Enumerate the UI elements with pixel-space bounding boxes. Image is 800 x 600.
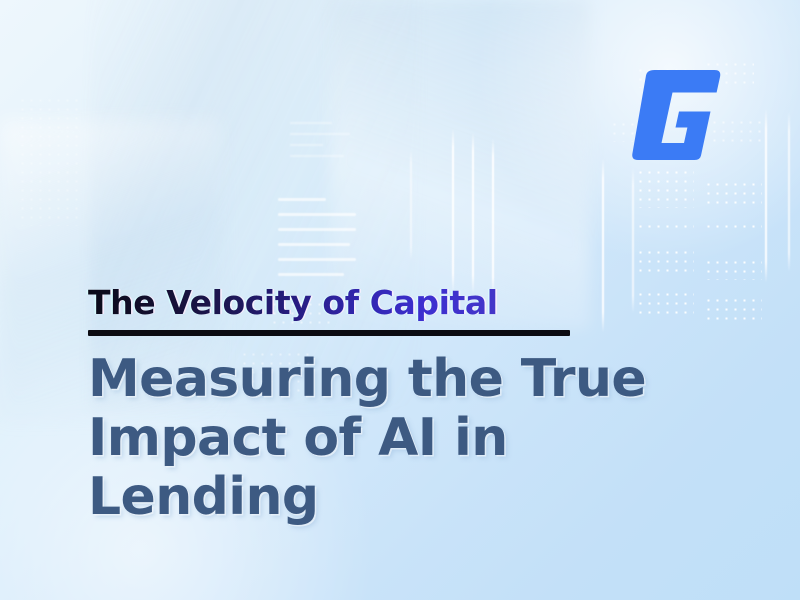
background-horizontal-bars-secondary [290, 122, 350, 182]
eyebrow-text: The Velocity of Capital [88, 286, 498, 321]
background-dot-grid [636, 248, 694, 278]
background-vertical-line [452, 128, 454, 293]
background-bar [290, 122, 332, 124]
background-dot-grid [636, 168, 694, 208]
background-bar [278, 258, 356, 261]
background-photo-ghost-right [330, 0, 590, 330]
background-vertical-line [472, 132, 474, 294]
background-bar [290, 133, 350, 135]
title-slide: The Velocity of Capital The Velocity of … [0, 0, 800, 600]
background-bar [290, 144, 323, 146]
background-dot-grid [636, 222, 694, 234]
title-divider [88, 330, 570, 336]
background-vertical-line [492, 138, 494, 296]
background-dot-grid [18, 96, 78, 226]
background-bar [290, 155, 344, 157]
background-bar [278, 213, 356, 216]
background-vertical-line [410, 150, 412, 260]
background-bar [278, 243, 350, 246]
g-logo-icon [628, 66, 724, 162]
background-dot-grid [704, 258, 762, 280]
background-vertical-line [765, 108, 767, 283]
background-bar [278, 198, 326, 201]
page-title-line-1: Measuring the True [88, 350, 728, 409]
eyebrow-wrapper: The Velocity of Capital The Velocity of … [88, 286, 498, 321]
page-title-line-2: Impact of AI in Lending [88, 409, 728, 528]
background-bar [278, 273, 344, 276]
page-title: Measuring the True Impact of AI in Lendi… [88, 350, 728, 528]
background-bar [278, 228, 356, 231]
background-dot-grid [704, 180, 762, 210]
background-vertical-line [788, 112, 790, 272]
title-text-block: The Velocity of Capital The Velocity of … [88, 286, 728, 527]
background-dot-grid [704, 222, 762, 234]
background-horizontal-bars [278, 198, 356, 288]
